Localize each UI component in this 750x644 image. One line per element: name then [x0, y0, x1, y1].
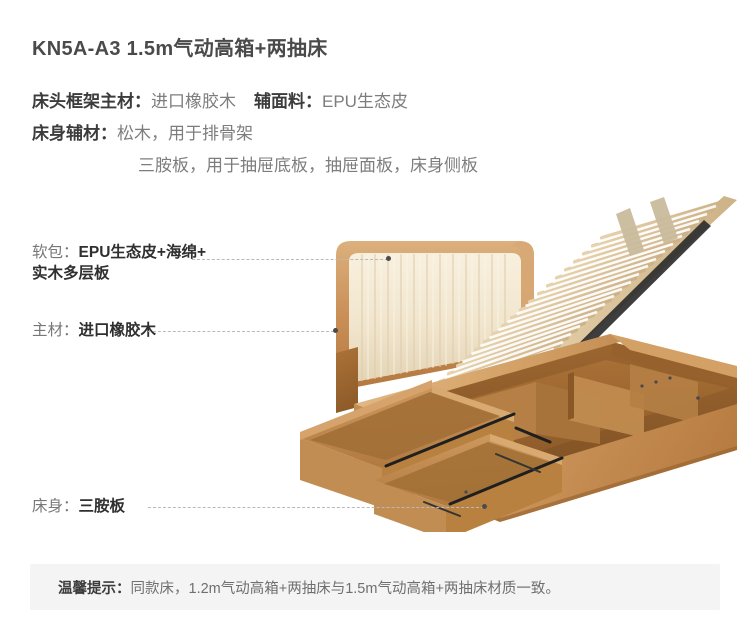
callout-main-material: 主材：进口橡胶木: [32, 320, 156, 341]
leader-line-soft-pack: [192, 259, 388, 260]
spec-row-bed-body-aux: 床身辅材：松木，用于排骨架: [32, 118, 692, 150]
tip-text: 温馨提示：同款床，1.2m气动高箱+两抽床与1.5m气动高箱+两抽床材质一致。: [30, 577, 560, 598]
page-title: KN5A-A3 1.5m气动高箱+两抽床: [32, 32, 328, 61]
tip-body: 同款床，1.2m气动高箱+两抽床与1.5m气动高箱+两抽床材质一致。: [131, 581, 560, 597]
spec-label-headboard-frame: 床头框架主材：: [32, 92, 151, 111]
specification-list: 床头框架主材：进口橡胶木辅面料：EPU生态皮 床身辅材：松木，用于排骨架 三胺板…: [32, 86, 692, 182]
spec-value-headboard-frame: 进口橡胶木: [151, 92, 236, 111]
leader-line-bed-body: [148, 507, 484, 508]
callout-value-bed-body: 三胺板: [79, 498, 126, 515]
leader-line-main-material: [148, 331, 334, 332]
callout-value-main-material: 进口橡胶木: [79, 322, 157, 339]
product-detail-page: KN5A-A3 1.5m气动高箱+两抽床 床头框架主材：进口橡胶木辅面料：EPU…: [0, 0, 750, 644]
spec-label-secondary-fabric: 辅面料：: [254, 92, 322, 111]
leader-dot-soft-pack: [386, 256, 391, 261]
callout-value2-soft-pack: 实木多层板: [32, 263, 206, 284]
leader-dot-main-material: [333, 328, 338, 333]
callout-bed-body: 床身：三胺板: [32, 496, 125, 517]
spec-row-headboard: 床头框架主材：进口橡胶木辅面料：EPU生态皮: [32, 86, 692, 118]
callout-label-bed-body: 床身：: [32, 498, 79, 515]
storage-bed-illustration: [300, 192, 740, 532]
spec-value-melamine: 三胺板，用于抽屉底板，抽屉面板，床身侧板: [138, 156, 478, 175]
spec-value-secondary-fabric: EPU生态皮: [322, 92, 408, 111]
spec-label-bed-body-aux: 床身辅材：: [32, 124, 117, 143]
spec-row-melamine: 三胺板，用于抽屉底板，抽屉面板，床身侧板: [32, 150, 692, 182]
leader-dot-bed-body: [482, 504, 487, 509]
callout-label-main-material: 主材：: [32, 322, 79, 339]
callout-label-soft-pack: 软包：: [32, 244, 79, 261]
tip-label: 温馨提示：: [58, 581, 131, 597]
spec-value-bed-body-aux: 松木，用于排骨架: [117, 124, 253, 143]
callout-soft-pack: 软包：EPU生态皮+海绵+ 实木多层板: [32, 242, 206, 284]
callout-value-soft-pack: EPU生态皮+海绵+: [79, 244, 206, 261]
tip-banner: 温馨提示：同款床，1.2m气动高箱+两抽床与1.5m气动高箱+两抽床材质一致。: [30, 564, 720, 610]
